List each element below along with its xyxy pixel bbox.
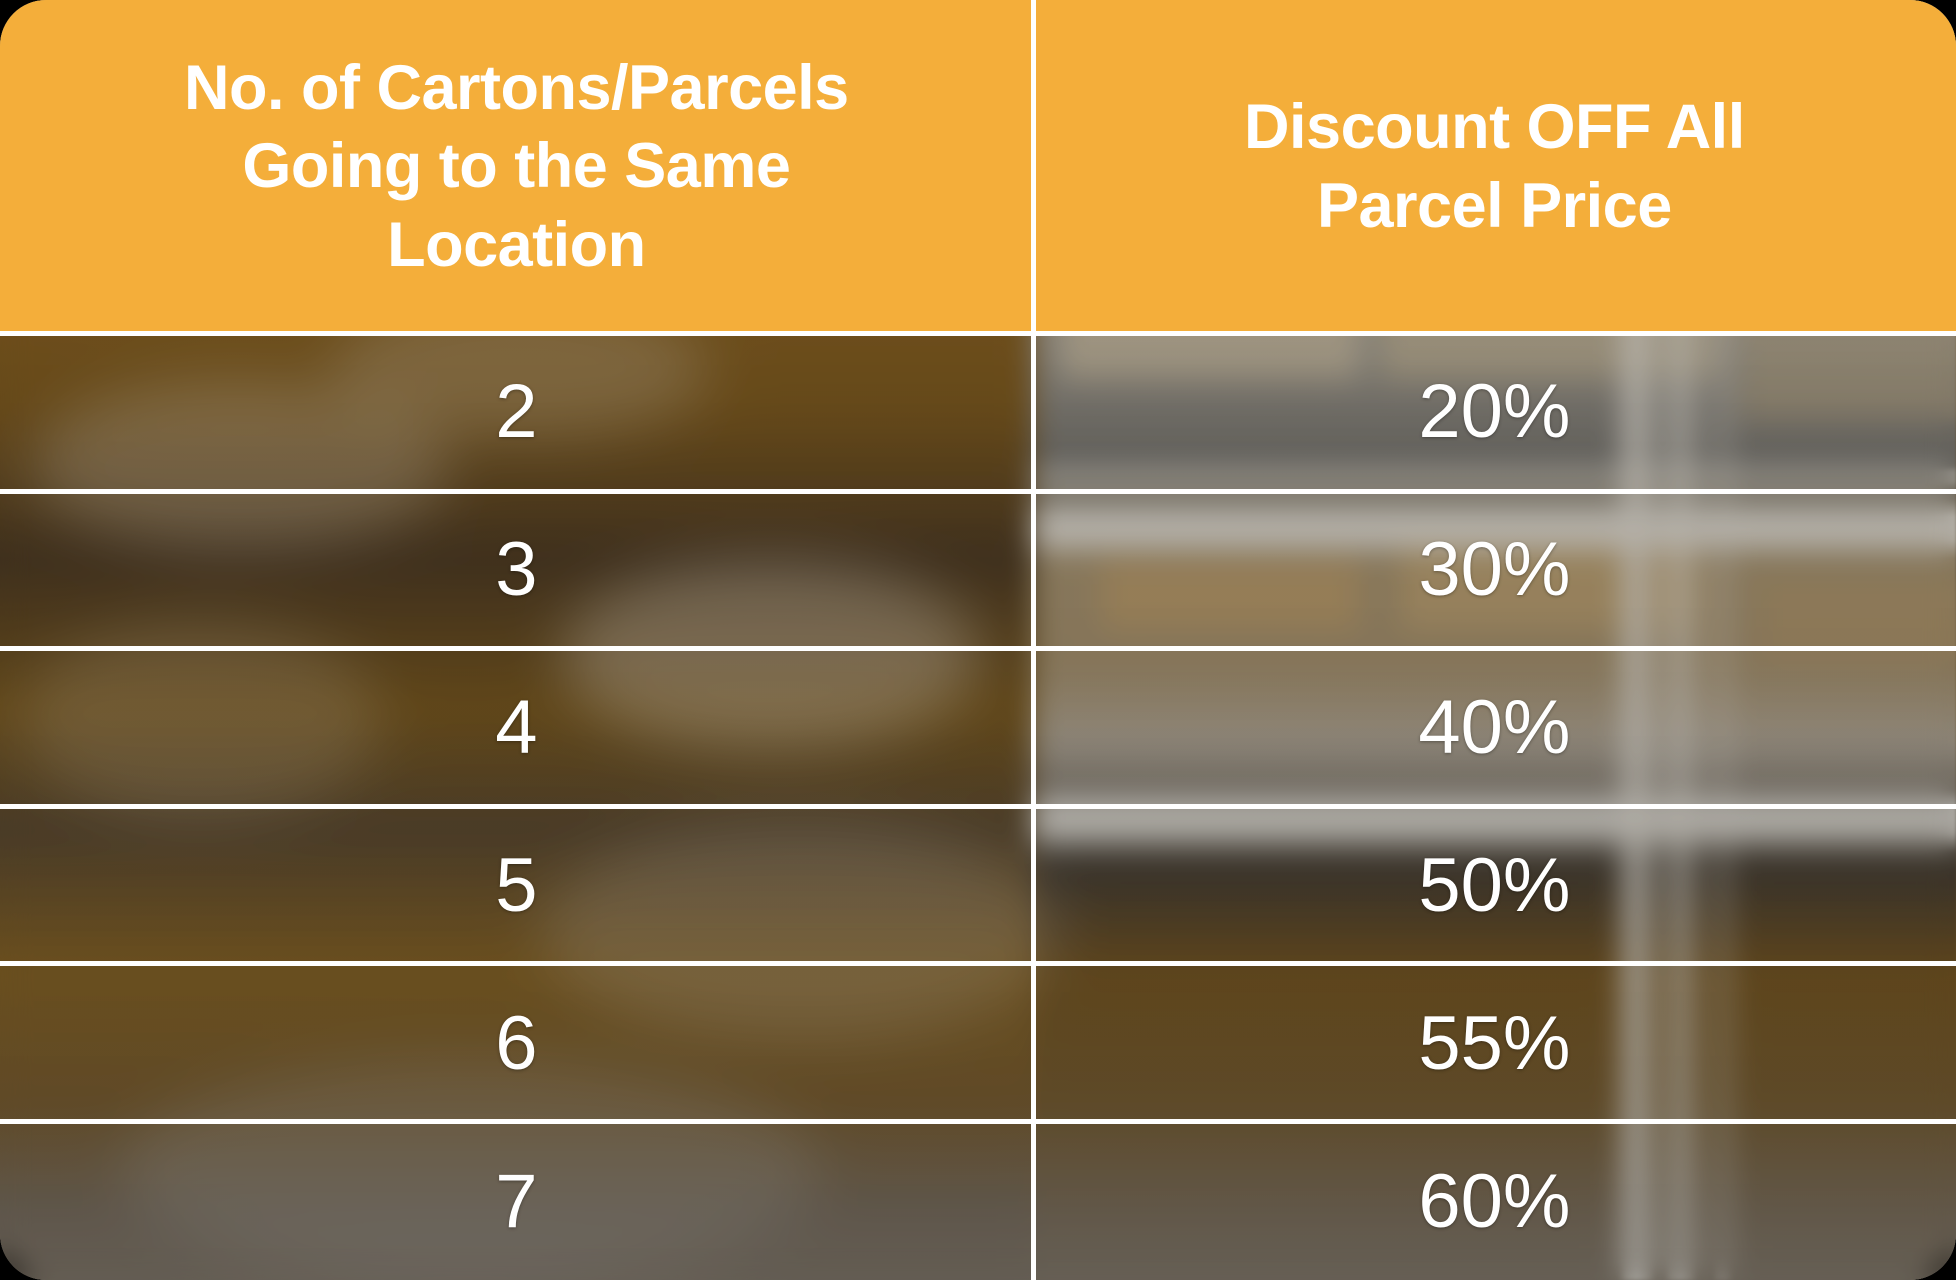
table-row: 5 — [0, 806, 1033, 964]
table-row: 4 — [0, 649, 1033, 807]
cell-parcels: 4 — [495, 684, 537, 771]
cell-discount: 40% — [1418, 684, 1570, 771]
table-row: 6 — [0, 964, 1033, 1122]
table-row: 2 — [0, 333, 1033, 491]
table-row: 7 — [0, 1122, 1033, 1280]
column-header-parcels-line-2: Going to the Same — [184, 127, 849, 205]
column-header-discount: Discount OFF All Parcel Price — [1033, 0, 1956, 333]
pricing-table: No. of Cartons/Parcels Going to the Same… — [0, 0, 1956, 1280]
cell-discount: 20% — [1418, 368, 1570, 455]
cell-discount: 55% — [1418, 1000, 1570, 1087]
cell-discount: 30% — [1418, 526, 1570, 613]
table-row: 3 — [0, 491, 1033, 649]
table-row: 20% — [1033, 333, 1956, 491]
cell-parcels: 2 — [495, 368, 537, 455]
cell-parcels: 3 — [495, 526, 537, 613]
column-header-parcels: No. of Cartons/Parcels Going to the Same… — [0, 0, 1033, 333]
cell-parcels: 6 — [495, 1000, 537, 1087]
table-row: 55% — [1033, 964, 1956, 1122]
table-row: 50% — [1033, 806, 1956, 964]
table-row: 40% — [1033, 649, 1956, 807]
column-header-parcels-line-1: No. of Cartons/Parcels — [184, 49, 849, 127]
column-header-discount-line-1: Discount OFF All — [1244, 88, 1745, 166]
discount-table-card: No. of Cartons/Parcels Going to the Same… — [0, 0, 1956, 1280]
cell-discount: 60% — [1418, 1158, 1570, 1245]
table-row: 30% — [1033, 491, 1956, 649]
cell-discount: 50% — [1418, 842, 1570, 929]
column-header-discount-line-2: Parcel Price — [1244, 167, 1745, 245]
cell-parcels: 7 — [495, 1158, 537, 1245]
cell-parcels: 5 — [495, 842, 537, 929]
table-row: 60% — [1033, 1122, 1956, 1280]
column-header-parcels-line-3: Location — [184, 206, 849, 284]
